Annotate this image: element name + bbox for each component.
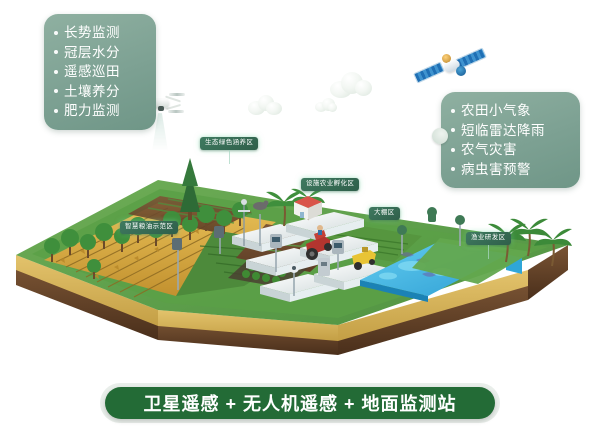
list-item-label: 农田小气象 (461, 101, 531, 121)
remote-sensing-capability-panel: 长势监测 冠层水分 遥感巡田 土壤养分 肥力监测 (44, 14, 156, 130)
list-item-label: 土壤养分 (64, 82, 120, 102)
summary-banner-label: 卫星遥感 + 无人机遥感 + 地面监测站 (143, 390, 456, 416)
zone-tag-label: 设施农业孵化区 (306, 180, 354, 187)
list-item-label: 病虫害预警 (461, 160, 531, 180)
bullet-icon (451, 128, 455, 132)
bullet-icon (54, 70, 58, 74)
list-item: 病虫害预警 (451, 160, 568, 180)
list-item-label: 肥力监测 (64, 101, 120, 121)
cloud-icon (315, 98, 337, 112)
list-item: 遥感巡田 (54, 62, 144, 82)
panel-pointer-nub (432, 128, 448, 144)
list-item: 农田小气象 (451, 101, 568, 121)
list-item: 冠层水分 (54, 43, 144, 63)
list-item: 长势监测 (54, 23, 144, 43)
list-item-label: 冠层水分 (64, 43, 120, 63)
bullet-icon (54, 89, 58, 93)
bullet-icon (451, 167, 455, 171)
bullet-icon (54, 109, 58, 113)
panel-right-list: 农田小气象 短临雷达降雨 农气灾害 病虫害预警 (451, 101, 568, 179)
summary-banner-frame: 卫星遥感 + 无人机遥感 + 地面监测站 (100, 383, 500, 423)
satellite-icon (414, 46, 488, 88)
list-item: 短临雷达降雨 (451, 121, 568, 141)
cloud-icon (330, 72, 372, 98)
list-item: 农气灾害 (451, 140, 568, 160)
cloud-icon (248, 95, 282, 115)
list-item-label: 短临雷达降雨 (461, 121, 545, 141)
bullet-icon (451, 109, 455, 113)
zone-tag-facility[interactable]: 设施农业孵化区 (301, 178, 359, 191)
weather-monitoring-panel: 农田小气象 短临雷达降雨 农气灾害 病虫害预警 (441, 92, 580, 188)
list-item-label: 遥感巡田 (64, 62, 120, 82)
zone-tag-eco[interactable]: 生态绿色涵养区 (200, 137, 258, 150)
tag-stem (488, 245, 489, 259)
zone-tag-label: 生态绿色涵养区 (205, 139, 253, 146)
zone-tag-label: 智慧粮油示范区 (125, 223, 173, 230)
bullet-icon (451, 148, 455, 152)
list-item-label: 长势监测 (64, 23, 120, 43)
tag-stem (229, 150, 230, 164)
bullet-icon (54, 31, 58, 35)
zone-tag-fishery[interactable]: 渔业研发区 (466, 232, 511, 245)
illustration-canvas: 生态绿色涵养区 智慧粮油示范区 设施农业孵化区 大棚区 渔业研发区 长势监测 冠… (0, 0, 600, 442)
zone-tag-greenhouse[interactable]: 大棚区 (369, 207, 400, 220)
panel-left-list: 长势监测 冠层水分 遥感巡田 土壤养分 肥力监测 (54, 23, 144, 121)
summary-banner: 卫星遥感 + 无人机遥感 + 地面监测站 (105, 387, 495, 419)
zone-tag-label: 渔业研发区 (471, 234, 506, 241)
list-item: 土壤养分 (54, 82, 144, 102)
list-item: 肥力监测 (54, 101, 144, 121)
zone-tag-grain[interactable]: 智慧粮油示范区 (120, 221, 178, 234)
list-item-label: 农气灾害 (461, 140, 517, 160)
bullet-icon (54, 50, 58, 54)
zone-tag-label: 大棚区 (374, 209, 395, 216)
